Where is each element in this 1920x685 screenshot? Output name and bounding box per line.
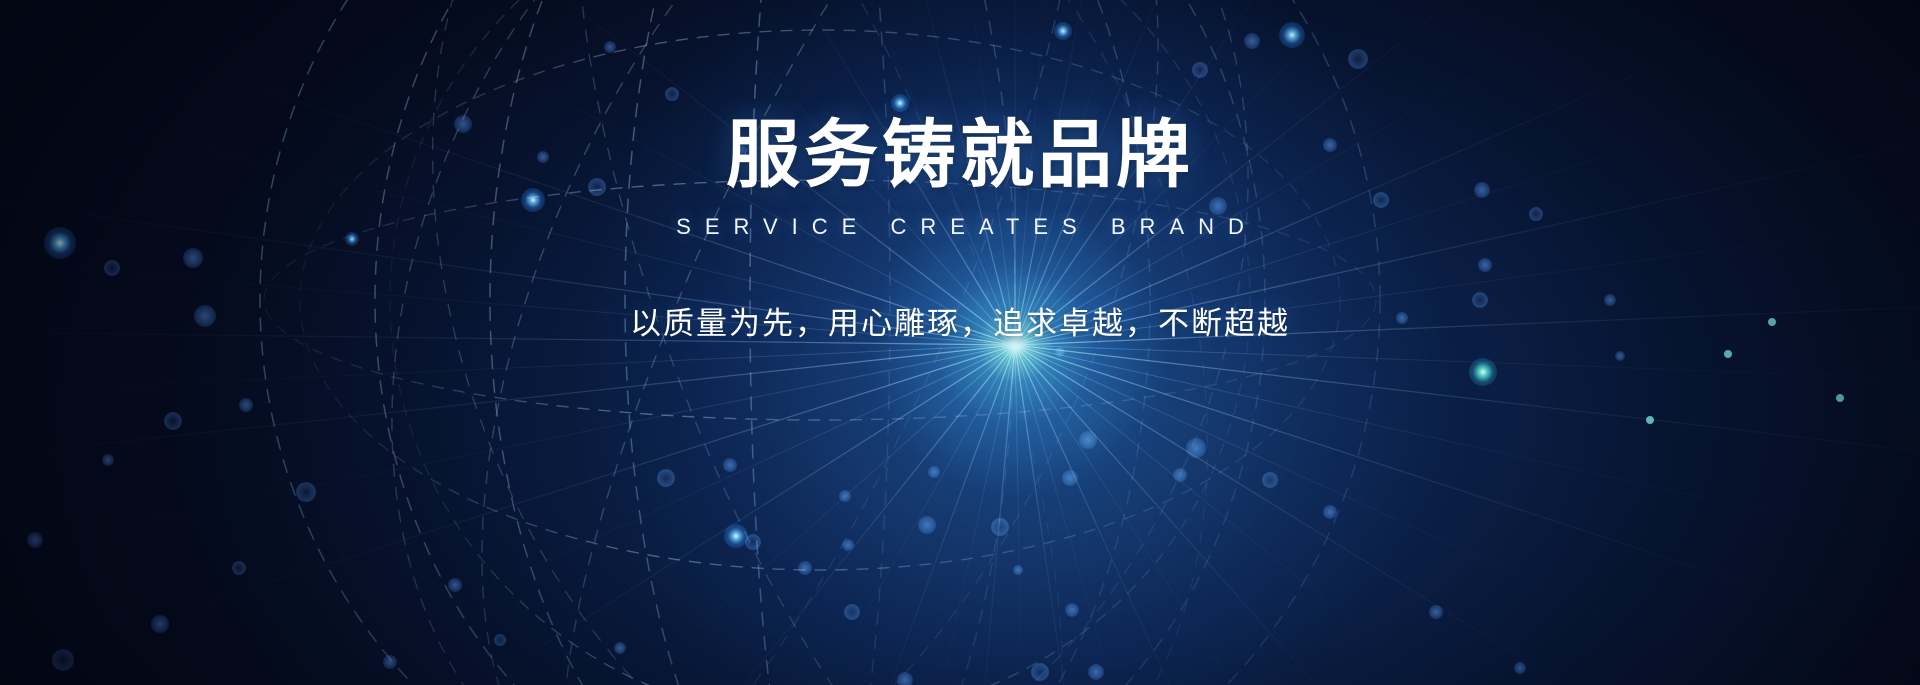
particle-dot bbox=[1724, 350, 1732, 358]
particle-dot bbox=[1054, 22, 1072, 40]
particle-dot bbox=[151, 615, 169, 633]
banner-headline: 服务铸就品牌 bbox=[0, 118, 1920, 192]
particle-dot bbox=[102, 454, 114, 466]
particle-dot bbox=[897, 672, 913, 685]
particle-dot bbox=[1031, 663, 1049, 681]
particle-dot bbox=[839, 490, 851, 502]
particle-dot bbox=[1173, 468, 1187, 482]
particle-dot bbox=[918, 516, 936, 534]
particle-dot bbox=[1186, 438, 1206, 458]
banner-subheadline: SERVICE CREATES BRAND bbox=[0, 214, 1920, 240]
particle-dot bbox=[494, 634, 506, 646]
particle-dot bbox=[665, 87, 679, 101]
particle-dot bbox=[1615, 351, 1625, 361]
particle-dot bbox=[844, 604, 860, 620]
particle-dot bbox=[1646, 416, 1654, 424]
particle-dot bbox=[239, 398, 253, 412]
particle-dot bbox=[614, 642, 626, 654]
particle-dot bbox=[1244, 33, 1260, 49]
particle-dot bbox=[1192, 62, 1208, 78]
particle-dot bbox=[383, 655, 397, 669]
particle-dot bbox=[448, 578, 462, 592]
particle-dot bbox=[1836, 394, 1844, 402]
particle-dot bbox=[745, 534, 761, 550]
particle-dot bbox=[1323, 505, 1337, 519]
particle-dot bbox=[164, 412, 182, 430]
particle-dot bbox=[232, 561, 246, 575]
particle-dot bbox=[1013, 565, 1023, 575]
particle-dot bbox=[1088, 664, 1104, 680]
particle-dot bbox=[657, 469, 675, 487]
banner-content: 服务铸就品牌 SERVICE CREATES BRAND 以质量为先，用心雕琢，… bbox=[0, 118, 1920, 343]
particle-dot bbox=[798, 561, 812, 575]
particle-dot bbox=[1065, 603, 1079, 617]
banner-tagline: 以质量为先，用心雕琢，追求卓越，不断超越 bbox=[0, 298, 1920, 343]
particle-dot bbox=[604, 41, 616, 53]
particle-dot bbox=[723, 458, 737, 472]
particle-dot bbox=[842, 539, 854, 551]
particle-dot bbox=[991, 518, 1009, 536]
particle-dot bbox=[27, 532, 43, 548]
particle-dot bbox=[1469, 358, 1497, 386]
particle-dot bbox=[1348, 49, 1368, 69]
particle-dot bbox=[1279, 22, 1305, 48]
particle-dot bbox=[891, 94, 909, 112]
particle-dot bbox=[1262, 472, 1278, 488]
particle-dot bbox=[1514, 662, 1526, 674]
particle-dot bbox=[296, 482, 316, 502]
hero-banner: 服务铸就品牌 SERVICE CREATES BRAND 以质量为先，用心雕琢，… bbox=[0, 0, 1920, 685]
particle-dot bbox=[724, 524, 748, 548]
particle-dot bbox=[1429, 605, 1443, 619]
particle-dot bbox=[52, 649, 74, 671]
